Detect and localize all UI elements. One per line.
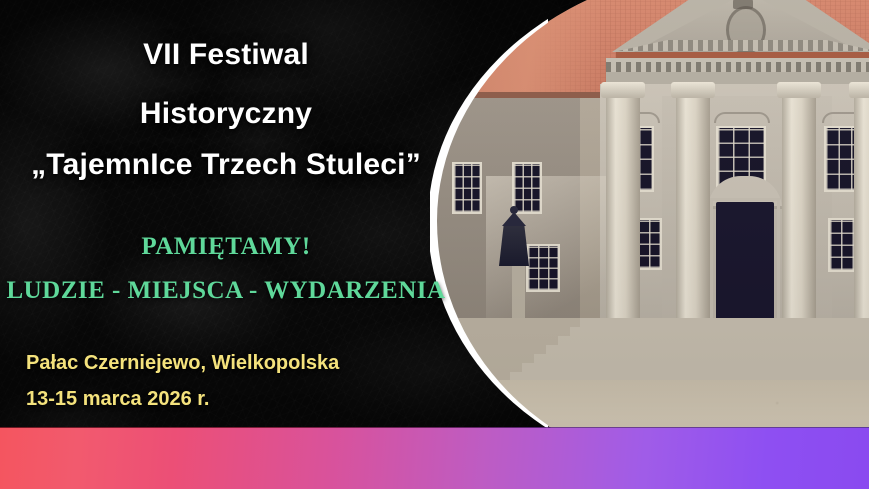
festival-poster: VII Festiwal Historyczny „TajemnIce Trze…	[0, 0, 869, 489]
venue-text: Pałac Czerniejewo, Wielkopolska	[26, 352, 339, 375]
bottom-banner: VII FESTIWAL HISTORYCZNY „TAJEMNICE TRZE…	[0, 428, 869, 489]
title-line-1: VII Festiwal	[0, 38, 452, 72]
title-line-2: Historyczny	[0, 97, 452, 131]
title-line-3: „TajemnIce Trzech Stuleci”	[0, 148, 452, 182]
slogan-line-2: LUDZIE - MIEJSCA - WYDARZENIA	[0, 277, 452, 305]
text-column: VII Festiwal Historyczny „TajemnIce Trze…	[0, 0, 452, 428]
palace-photo	[430, 0, 869, 440]
palace-photo-clip	[430, 0, 869, 440]
dates-text: 13-15 marca 2026 r.	[26, 388, 210, 411]
photo-color-grade	[430, 0, 869, 440]
slogan-line-1: PAMIĘTAMY!	[0, 233, 452, 261]
